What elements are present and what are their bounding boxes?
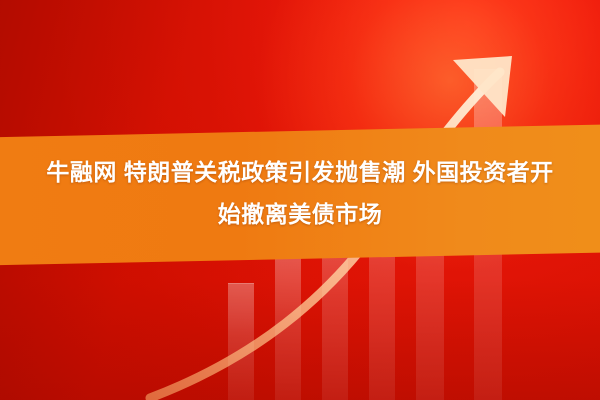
headline-line-1: 牛融网 特朗普关税政策引发抛售潮 外国投资者开 xyxy=(0,150,600,194)
page-title: 牛融网 特朗普关税政策引发抛售潮 外国投资者开 始撤离美债市场 xyxy=(0,150,600,236)
banner-image: 牛融网 特朗普关税政策引发抛售潮 外国投资者开 始撤离美债市场 xyxy=(0,0,600,400)
headline-line-2: 始撤离美债市场 xyxy=(0,192,600,236)
